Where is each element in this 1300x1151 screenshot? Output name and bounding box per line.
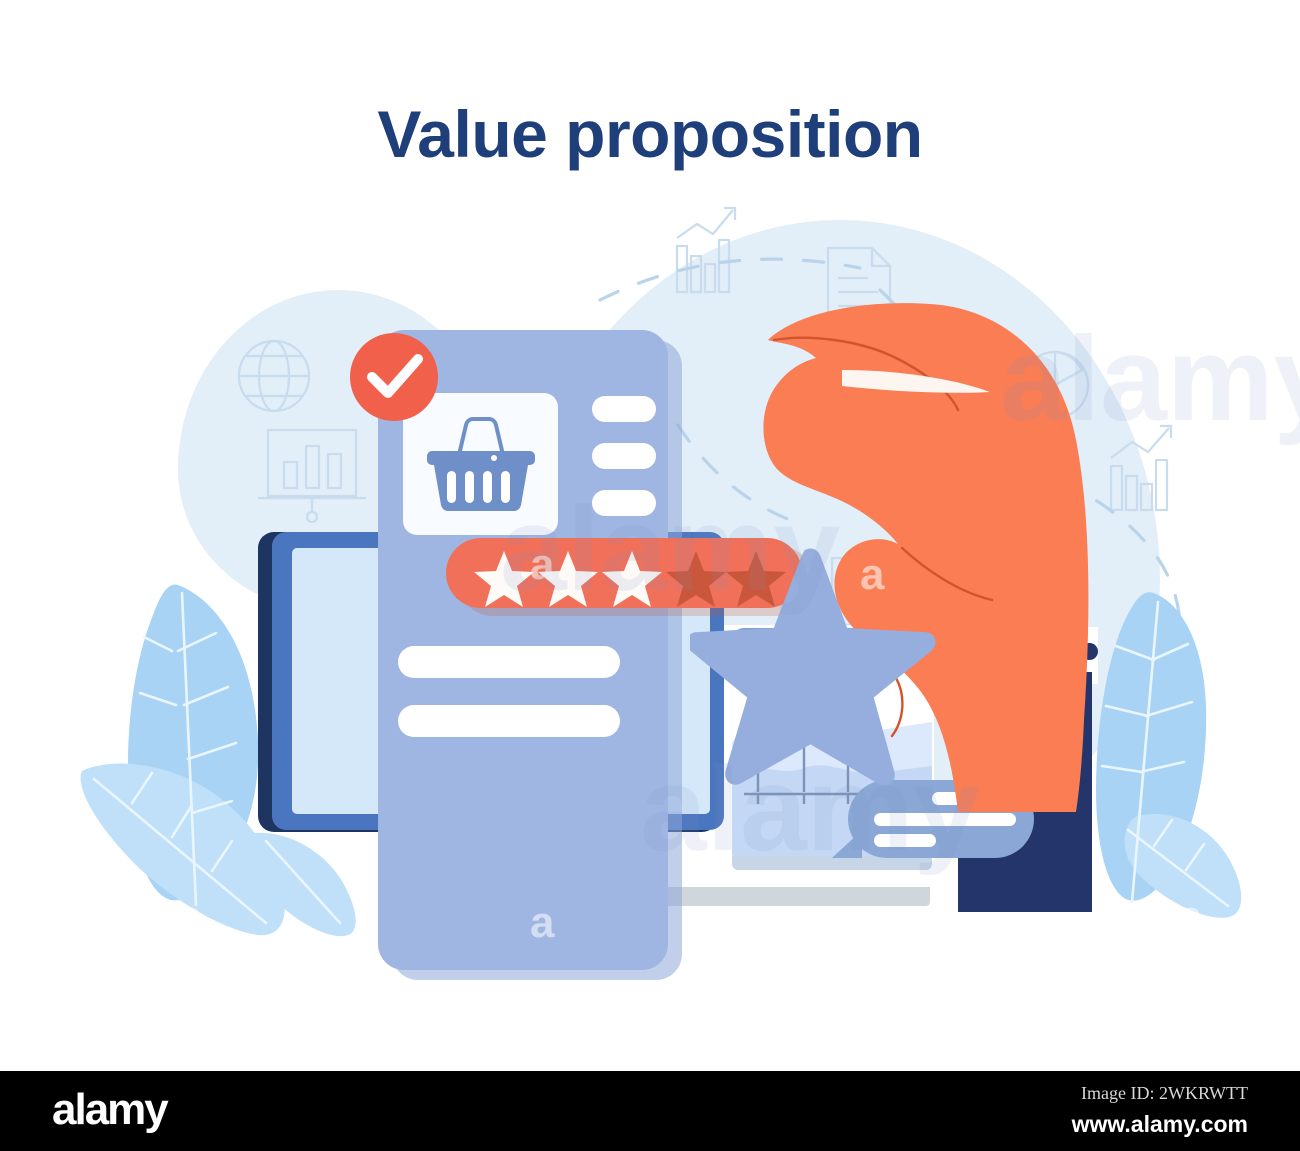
chat-bubble-line [874, 834, 936, 847]
image-id-label: Image ID: 2WKRWTT [0, 1083, 1300, 1104]
card-pill [592, 396, 656, 422]
star-filled [474, 551, 662, 607]
alamy-url: www.alamy.com [0, 1111, 1300, 1138]
card-text-line [398, 705, 620, 737]
illustration-stage: a a a a a a a a alamy alamy alamy [0, 180, 1300, 970]
screenshot-root: Value proposition [0, 0, 1300, 1151]
card-pill [592, 443, 656, 469]
hand-holding-star [690, 300, 1110, 820]
browser-window-foot [732, 856, 932, 870]
card-pill [592, 490, 656, 516]
check-circle-icon [350, 333, 438, 421]
bar-chart-trend-icon [1111, 426, 1171, 510]
page-title: Value proposition [0, 96, 1300, 172]
footer-bar: alamy Image ID: 2WKRWTT www.alamy.com [0, 1071, 1300, 1151]
bar-chart-trend-icon [677, 208, 735, 292]
globe-icon [239, 341, 309, 411]
card-text-line [398, 646, 620, 678]
presentation-bar-chart-icon [258, 430, 366, 522]
